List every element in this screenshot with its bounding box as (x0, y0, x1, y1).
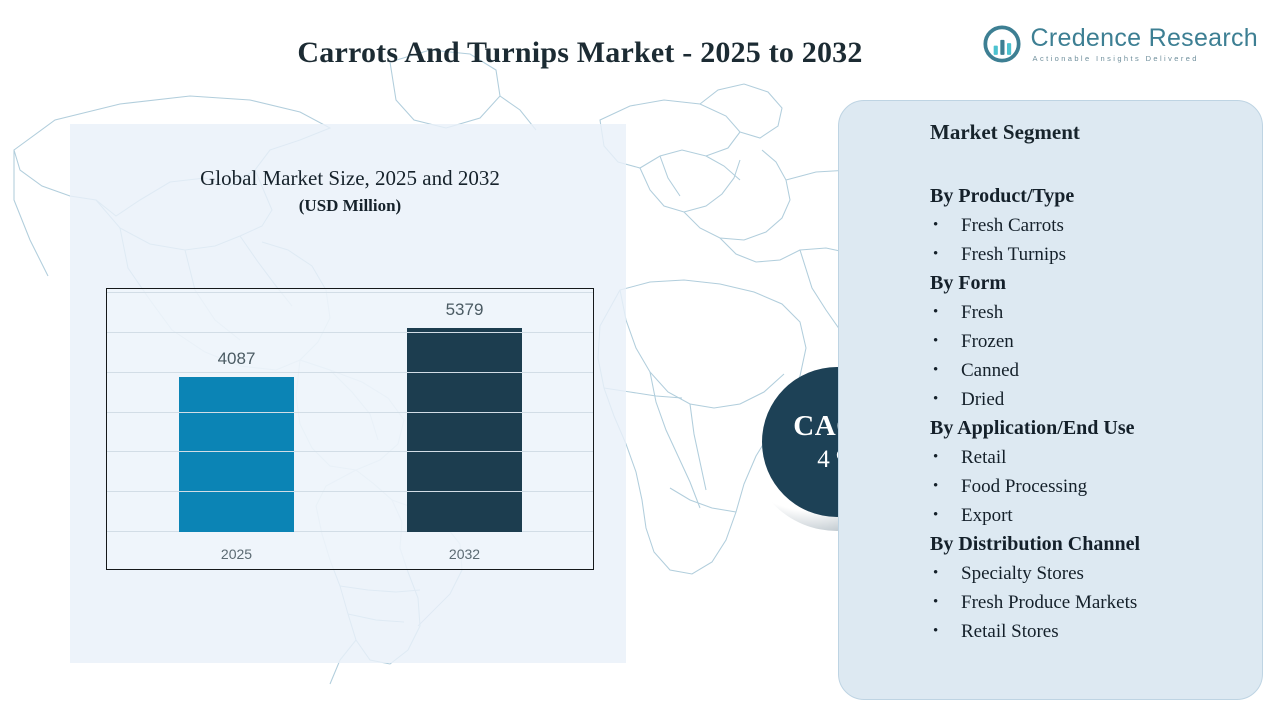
segment-list-item[interactable]: Fresh (930, 298, 1250, 327)
segment-list-item[interactable]: Specialty Stores (930, 559, 1250, 588)
chart-gridline (107, 491, 593, 492)
segment-list-item[interactable]: Canned (930, 356, 1250, 385)
segment-list-item[interactable]: Food Processing (930, 472, 1250, 501)
chart-gridline (107, 451, 593, 452)
market-segment-heading: Market Segment (930, 120, 1080, 145)
infographic-canvas: Carrots And Turnips Market - 2025 to 203… (0, 0, 1280, 720)
logo-tagline: Actionable Insights Delivered (1033, 55, 1258, 63)
chart-gridline (107, 412, 593, 413)
bar-value-0: 4087 (159, 349, 314, 369)
brand-logo: Credence Research Actionable Insights De… (982, 24, 1258, 64)
bar-0 (179, 377, 294, 532)
bar-value-1: 5379 (387, 300, 542, 320)
bar-1 (407, 328, 522, 532)
logo-text: Credence Research Actionable Insights De… (1031, 26, 1258, 63)
chart-plot-area: 4087 2025 5379 2032 (107, 289, 593, 569)
market-segment-list: By Product/TypeFresh CarrotsFresh Turnip… (930, 182, 1250, 646)
chart-gridline (107, 292, 593, 293)
bar-category-1: 2032 (387, 546, 542, 562)
chart-title: Global Market Size, 2025 and 2032 (110, 166, 590, 191)
chart-subtitle: (USD Million) (110, 196, 590, 216)
segment-list-item[interactable]: Retail (930, 443, 1250, 472)
segment-list-item[interactable]: Dried (930, 385, 1250, 414)
segment-list-item[interactable]: Fresh Turnips (930, 240, 1250, 269)
logo-company-name: Credence Research (1031, 26, 1258, 51)
segment-list-item[interactable]: Fresh Produce Markets (930, 588, 1250, 617)
bar-chart-circle-icon (982, 24, 1022, 64)
chart-gridline (107, 332, 593, 333)
segment-group-title: By Form (930, 269, 1250, 298)
segment-group-title: By Application/End Use (930, 414, 1250, 443)
bar-category-0: 2025 (159, 546, 314, 562)
segment-group-title: By Product/Type (930, 182, 1250, 211)
segment-list-item[interactable]: Frozen (930, 327, 1250, 356)
segment-list-item[interactable]: Export (930, 501, 1250, 530)
segment-group-title: By Distribution Channel (930, 530, 1250, 559)
segment-list-item[interactable]: Retail Stores (930, 617, 1250, 646)
chart-gridline (107, 372, 593, 373)
segment-list-item[interactable]: Fresh Carrots (930, 211, 1250, 240)
bar-chart: 4087 2025 5379 2032 (106, 288, 594, 570)
